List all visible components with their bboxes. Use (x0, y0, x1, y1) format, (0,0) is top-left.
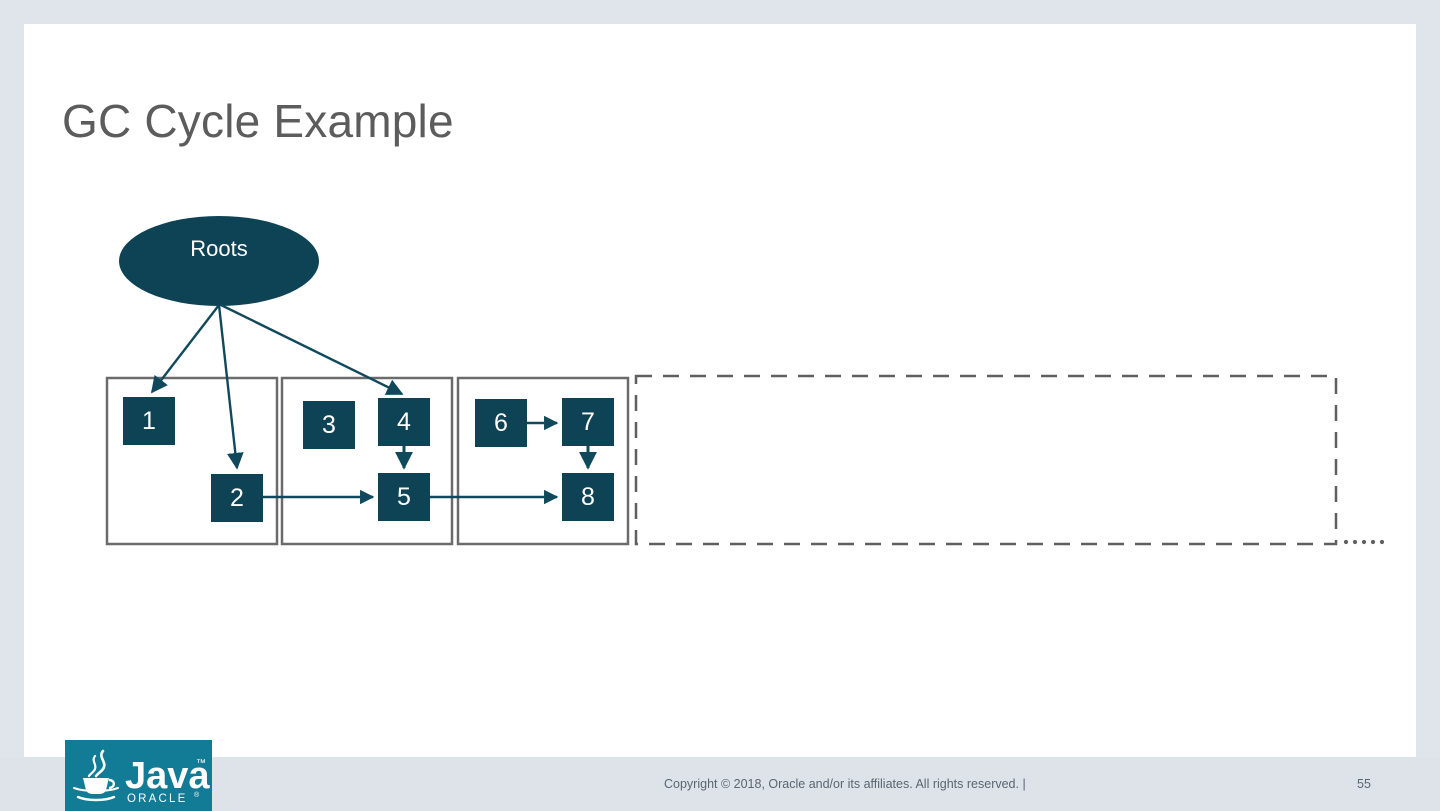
svg-text:ORACLE: ORACLE (127, 793, 188, 805)
diagram-vector-layer (24, 24, 1416, 757)
java-logo-icon: Java ™ ORACLE ® (65, 740, 212, 811)
gc-cycle-diagram: Roots 1 2 3 4 5 6 7 8 (24, 24, 1416, 757)
svg-text:®: ® (194, 791, 200, 799)
ellipsis-dots (1344, 540, 1384, 544)
object-node-6: 6 (475, 399, 527, 447)
object-node-2: 2 (211, 474, 263, 522)
svg-text:™: ™ (196, 758, 206, 769)
object-node-3: 3 (303, 401, 355, 449)
object-node-1: 1 (123, 397, 175, 445)
object-node-5: 5 (378, 473, 430, 521)
object-node-8: 8 (562, 473, 614, 521)
region-empty-dashed (636, 376, 1336, 544)
roots-ellipse (119, 216, 319, 306)
java-oracle-logo: Java ™ ORACLE ® (65, 740, 212, 811)
slide-page: GC Cycle Example (0, 0, 1440, 811)
arrow-roots-to-4 (221, 305, 402, 394)
slide-canvas: GC Cycle Example (24, 24, 1416, 757)
object-node-4: 4 (378, 398, 430, 446)
page-number: 55 (1357, 777, 1371, 791)
arrow-roots-to-2 (219, 305, 237, 468)
copyright-text: Copyright © 2018, Oracle and/or its affi… (664, 777, 1026, 791)
object-node-7: 7 (562, 398, 614, 446)
